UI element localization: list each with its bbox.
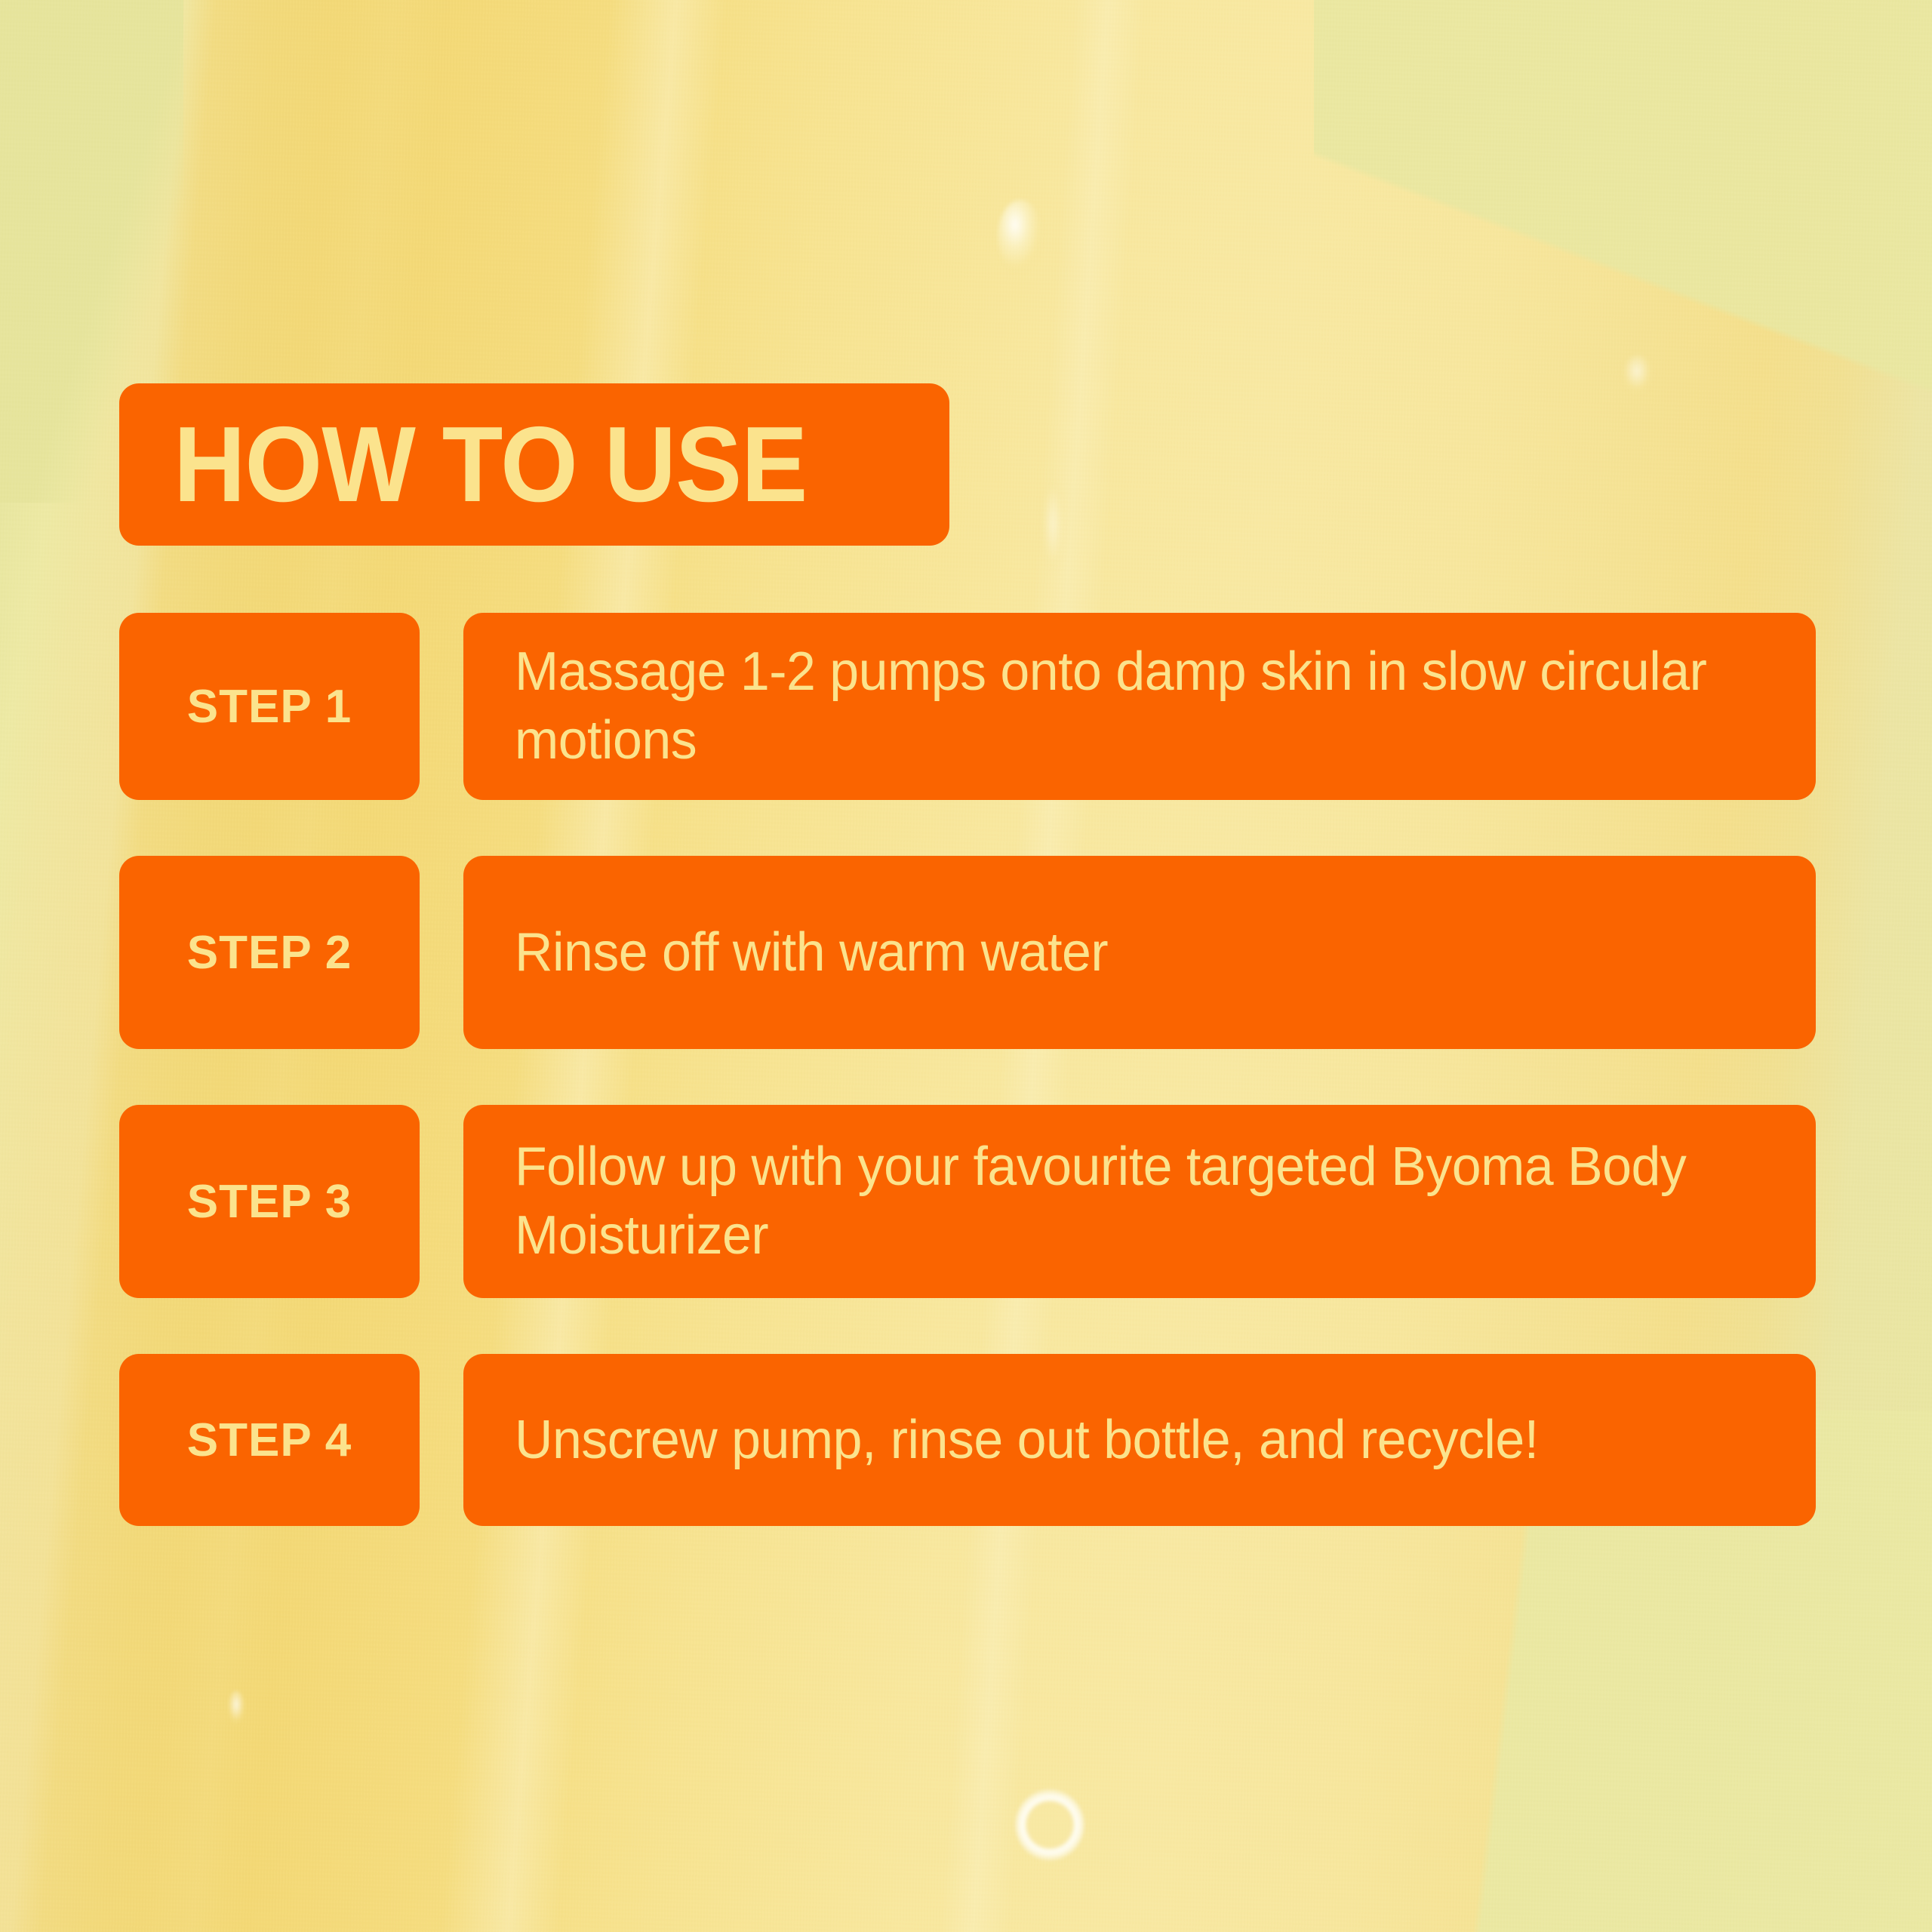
list-item: STEP 4 Unscrew pump, rinse out bottle, a… [119,1354,1816,1526]
step-body: Unscrew pump, rinse out bottle, and recy… [463,1354,1816,1526]
step-badge: STEP 4 [119,1354,420,1526]
step-body: Massage 1-2 pumps onto damp skin in slow… [463,613,1816,800]
page-title-card: HOW TO USE [119,383,949,546]
steps-list: STEP 1 Massage 1-2 pumps onto damp skin … [119,613,1816,1526]
step-body: Follow up with your favourite targeted B… [463,1105,1816,1298]
step-badge-label: STEP 4 [187,1414,352,1467]
page-title: HOW TO USE [174,411,807,518]
step-badge: STEP 2 [119,856,420,1049]
step-description: Rinse off with warm water [515,918,1108,987]
step-badge-label: STEP 1 [187,680,352,734]
step-badge-label: STEP 2 [187,926,352,980]
list-item: STEP 3 Follow up with your favourite tar… [119,1105,1816,1298]
step-badge-label: STEP 3 [187,1175,352,1229]
step-body: Rinse off with warm water [463,856,1816,1049]
poster-content: HOW TO USE STEP 1 Massage 1-2 pumps onto… [0,0,1932,1932]
list-item: STEP 1 Massage 1-2 pumps onto damp skin … [119,613,1816,800]
step-badge: STEP 1 [119,613,420,800]
step-badge: STEP 3 [119,1105,420,1298]
list-item: STEP 2 Rinse off with warm water [119,856,1816,1049]
step-description: Massage 1-2 pumps onto damp skin in slow… [515,638,1727,774]
step-description: Unscrew pump, rinse out bottle, and recy… [515,1406,1539,1475]
step-description: Follow up with your favourite targeted B… [515,1133,1727,1269]
how-to-use-poster: HOW TO USE STEP 1 Massage 1-2 pumps onto… [0,0,1932,1932]
